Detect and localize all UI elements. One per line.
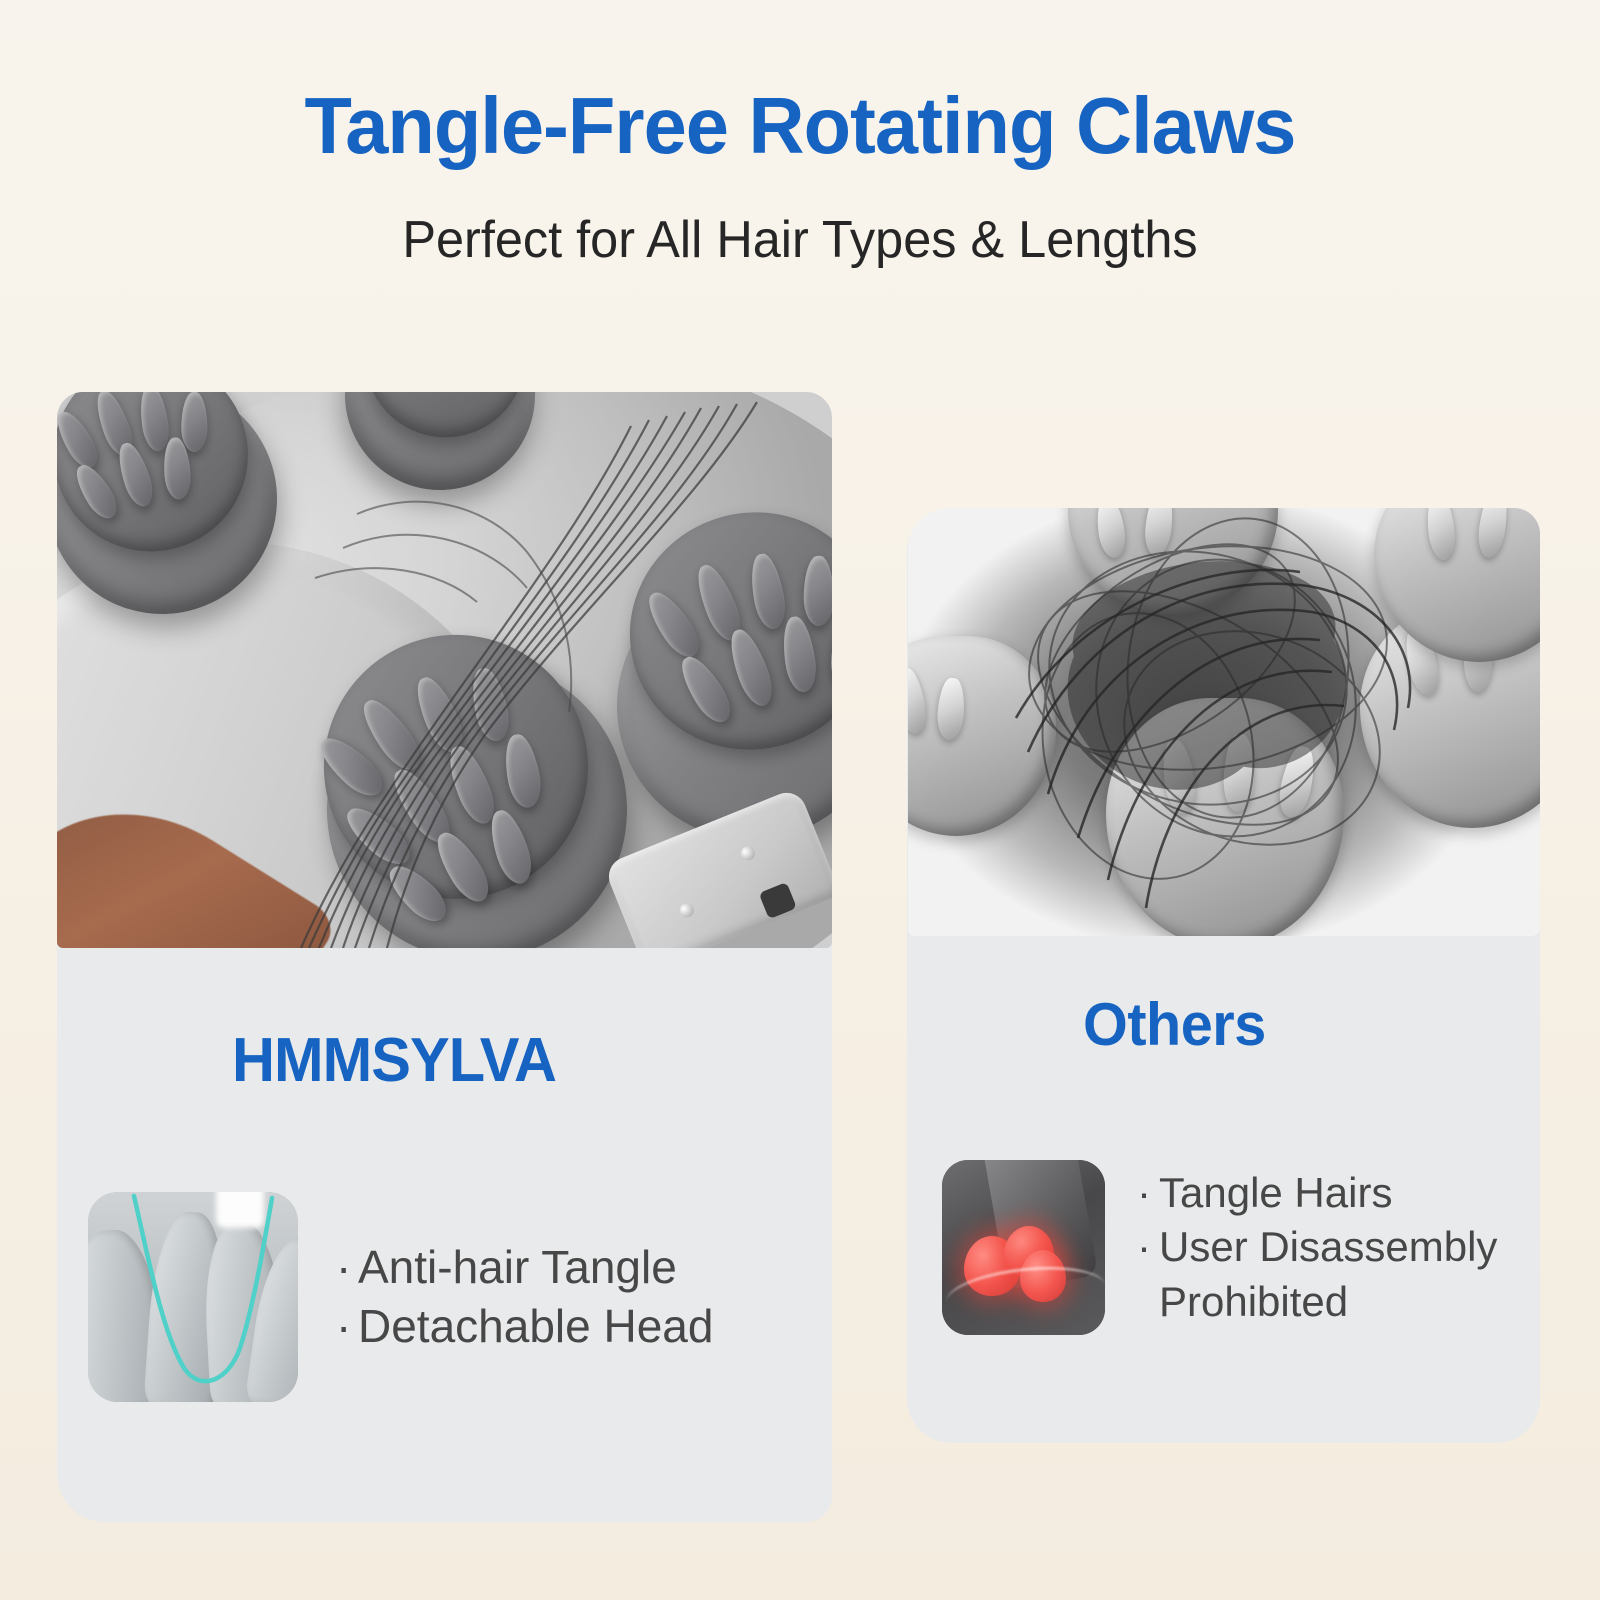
- anti-tangle-channel-icon: [88, 1192, 298, 1402]
- feature-list-ours: ·Anti-hair Tangle ·Detachable Head: [336, 1238, 713, 1356]
- bullet-marker: ·: [336, 1238, 358, 1297]
- brand-label-ours: HMMSYLVA: [232, 1030, 556, 1092]
- feature-thumb-ours: [88, 1192, 298, 1402]
- list-item: ·User Disassembly: [1137, 1220, 1497, 1275]
- header: Tangle-Free Rotating Claws Perfect for A…: [0, 0, 1600, 266]
- feature-thumb-others: [942, 1160, 1105, 1335]
- bullet-marker: ·: [1137, 1220, 1159, 1275]
- hero-image-others: [908, 508, 1540, 936]
- bullet-marker: ·: [1137, 1166, 1159, 1221]
- feature-row-others: ·Tangle Hairs ·User Disassembly Prohibit…: [942, 1160, 1497, 1335]
- hero-image-ours: [57, 392, 832, 948]
- list-item-label: Tangle Hairs: [1159, 1169, 1392, 1216]
- feature-row-ours: ·Anti-hair Tangle ·Detachable Head: [88, 1192, 713, 1402]
- list-item-continuation: Prohibited: [1137, 1275, 1497, 1330]
- list-item: ·Detachable Head: [336, 1297, 713, 1356]
- list-item-label: Detachable Head: [358, 1300, 713, 1352]
- tangled-hair-mass: [908, 508, 1540, 936]
- feature-list-others: ·Tangle Hairs ·User Disassembly Prohibit…: [1137, 1166, 1497, 1330]
- bullet-marker: ·: [336, 1297, 358, 1356]
- page-title: Tangle-Free Rotating Claws: [24, 0, 1576, 166]
- brand-label-others: Others: [1083, 995, 1266, 1055]
- list-item: ·Tangle Hairs: [1137, 1166, 1497, 1221]
- hair-strands-flowing: [57, 392, 832, 948]
- list-item-label: Anti-hair Tangle: [358, 1241, 677, 1293]
- list-item-label: User Disassembly: [1159, 1223, 1497, 1270]
- list-item: ·Anti-hair Tangle: [336, 1238, 713, 1297]
- page-subtitle: Perfect for All Hair Types & Lengths: [24, 166, 1576, 266]
